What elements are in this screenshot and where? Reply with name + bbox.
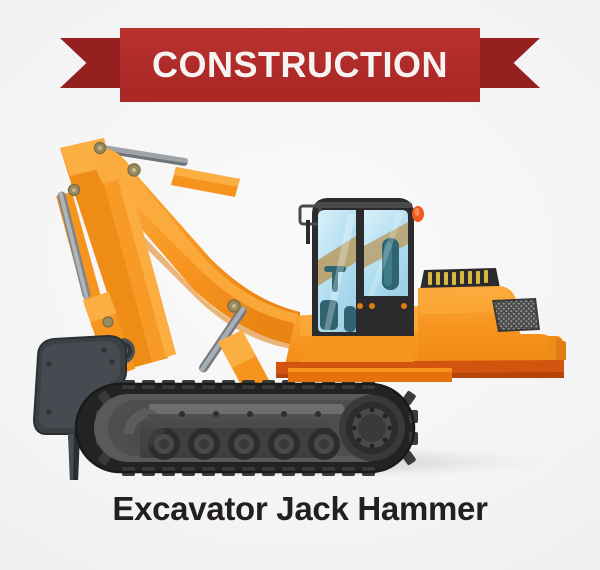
operator-cab <box>300 198 424 362</box>
engine-vent-grille <box>492 298 540 332</box>
poster-canvas: CONSTRUCTION <box>0 0 600 570</box>
cab-roof-lamp <box>412 206 424 222</box>
crawler-track <box>76 380 418 476</box>
page-title: Excavator Jack Hammer <box>0 490 600 528</box>
excavator-illustration <box>0 110 600 480</box>
banner-title: CONSTRUCTION <box>120 28 480 102</box>
construction-banner: CONSTRUCTION <box>0 28 600 108</box>
drive-sprocket <box>339 395 405 461</box>
track-idler <box>124 408 164 448</box>
